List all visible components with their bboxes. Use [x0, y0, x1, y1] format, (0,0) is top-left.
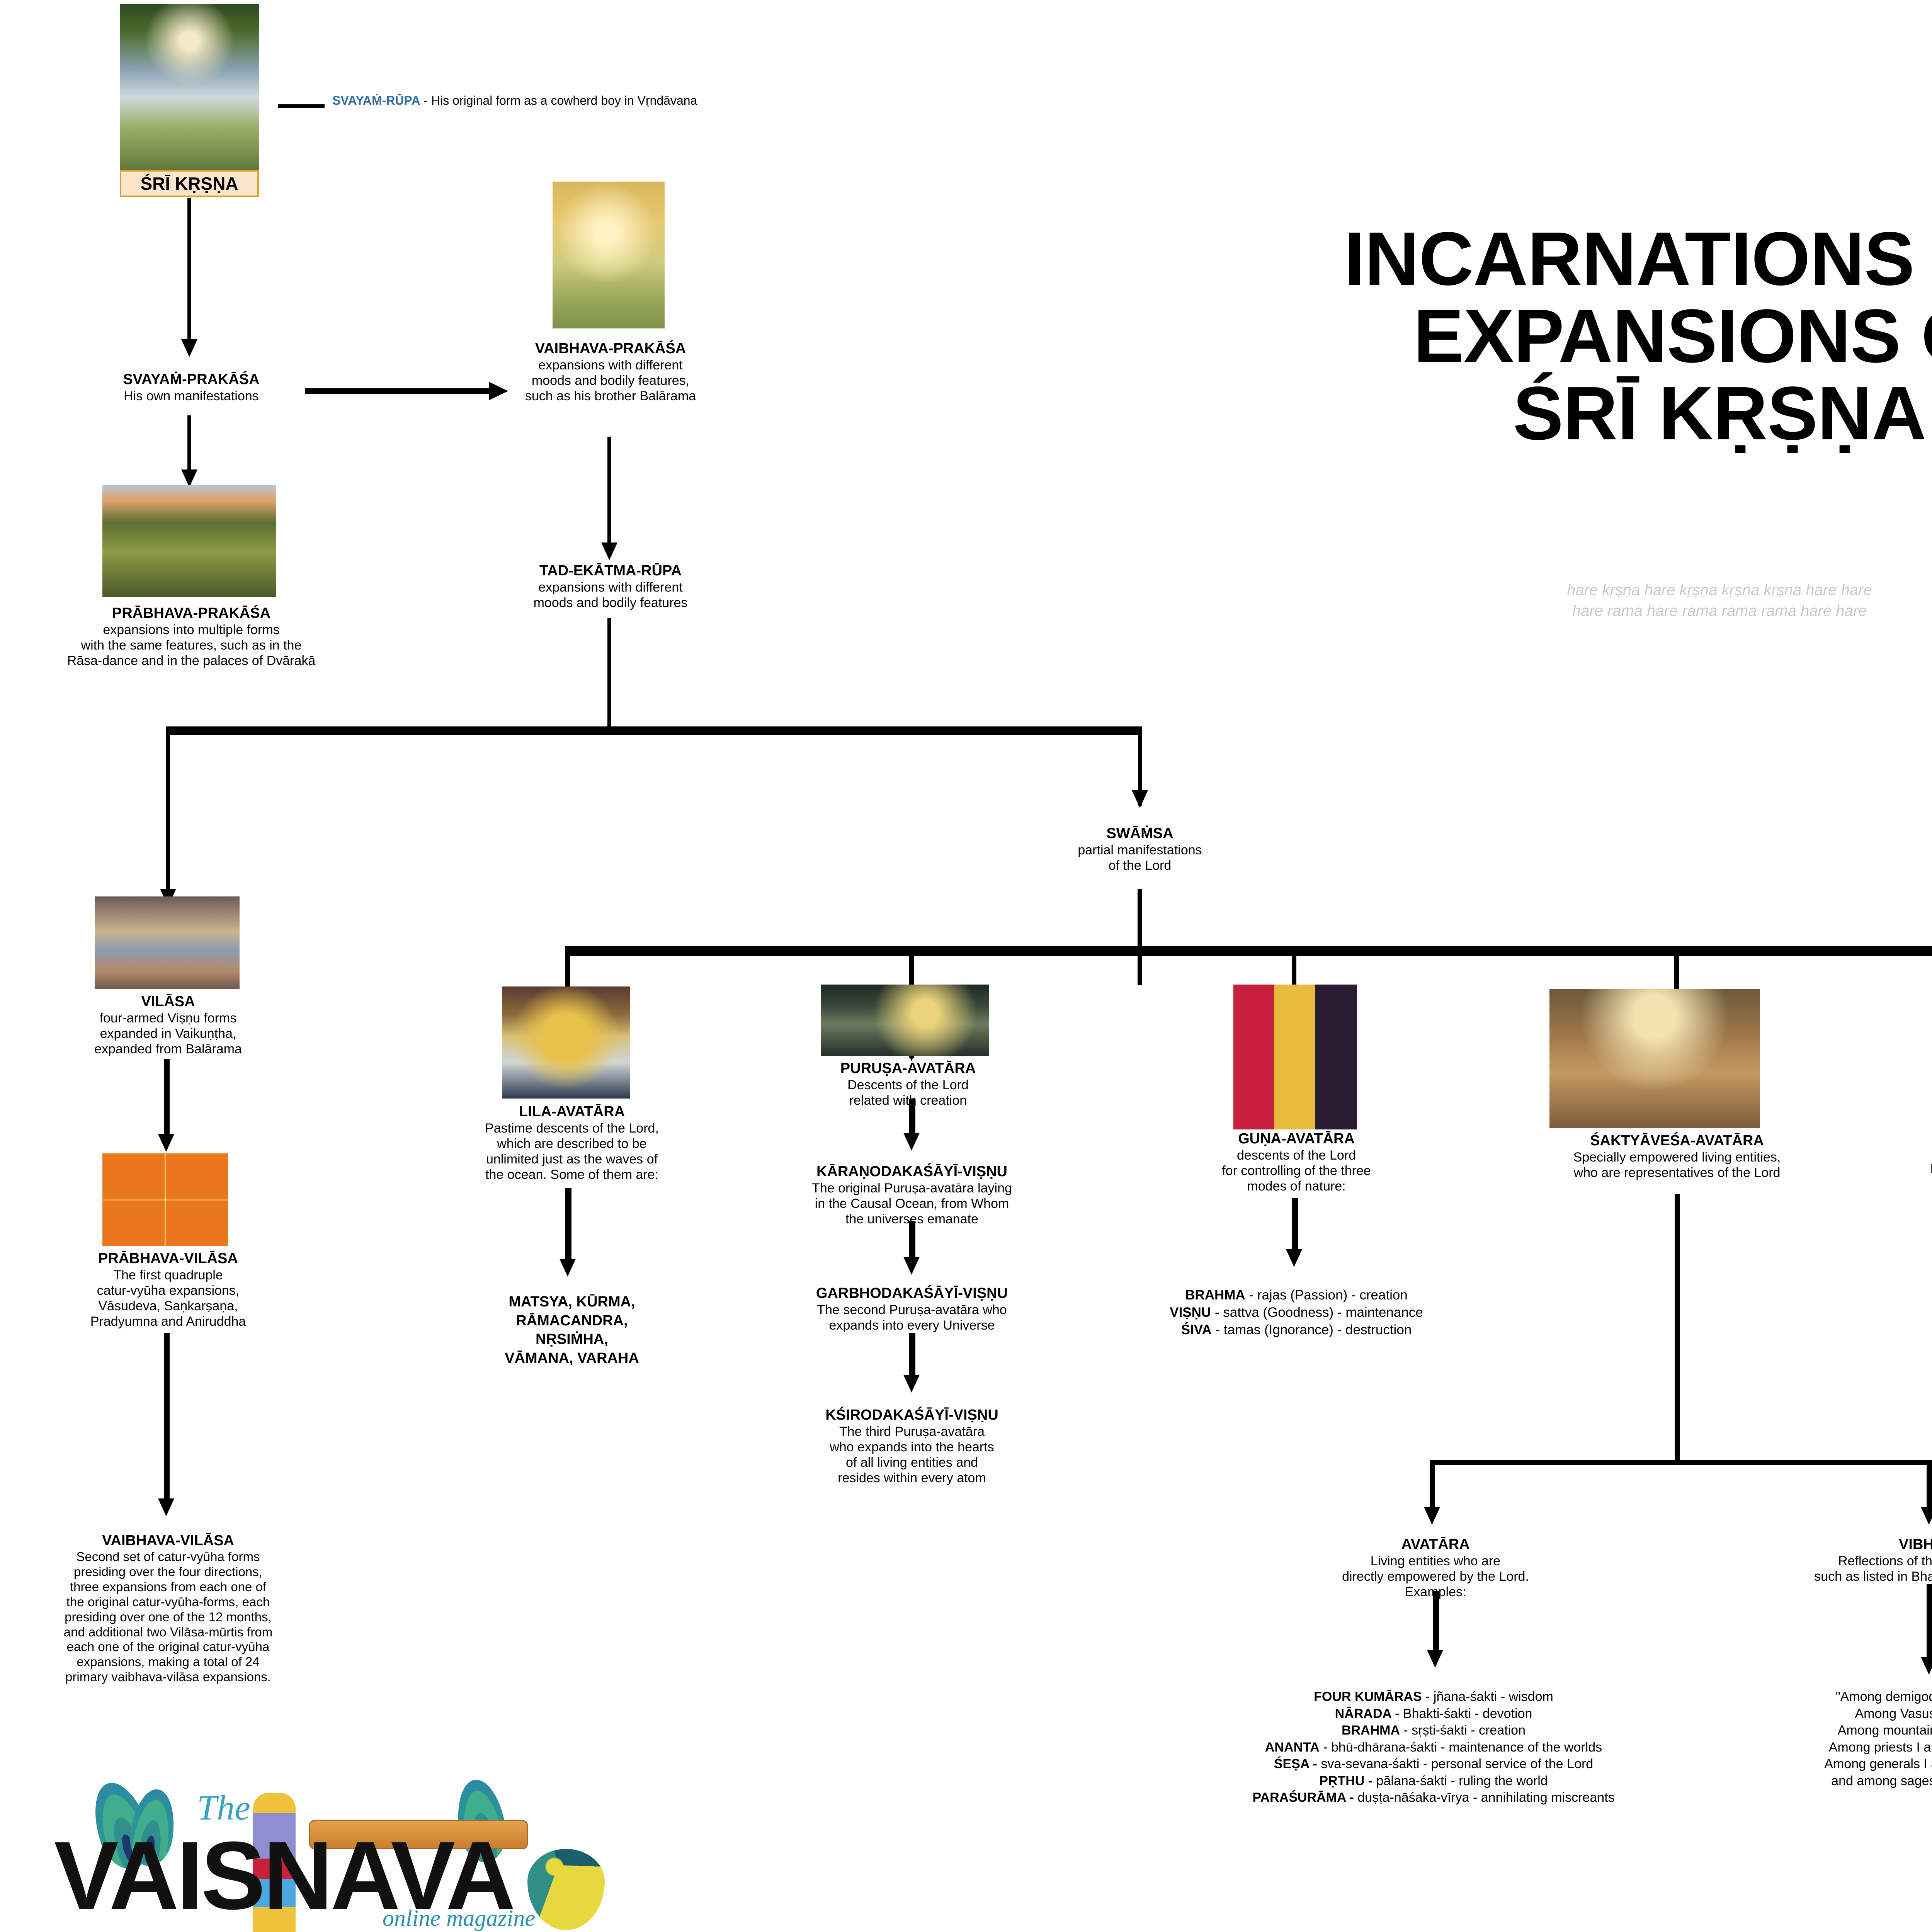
connector-vibhuti-to-quote [1927, 1584, 1932, 1660]
node-prabhava-vilasa-heading: PRĀBHAVA-VILĀSA [23, 1250, 313, 1267]
distribution-bar-avataras [565, 946, 1932, 956]
node-tad-ekatma-rupa: TAD-EKĀTMA-RŪPA expansions with differen… [475, 562, 746, 611]
lila-avatara-list: MATSYA, KŪRMA, RĀMACANDRA, NṚSIṀHA, VĀMA… [429, 1293, 715, 1368]
list-item: "Among demigods I am INDRA, [1731, 1689, 1932, 1706]
vibhuti-quote-4-pre: Among generals I am [1824, 1757, 1932, 1771]
node-vaibhava-vilasa-body: Second set of catur-vyūha forms presidin… [4, 1549, 332, 1685]
list-item: VIṢṆU - sattva (Goodness) - maintenance [1109, 1304, 1484, 1321]
peacock-icon [527, 1849, 605, 1930]
vaikuntha-visnu-image [95, 896, 240, 989]
avatara-list-3-desc: - bhū-dhārana-śakti - maintenance of the… [1320, 1740, 1602, 1755]
node-saktyavesa-avatara-heading: ŚAKTYĀVEŚA-AVATĀRA [1515, 1132, 1839, 1150]
list-item: Among priests I am BṚIHASPATI, [1731, 1739, 1932, 1756]
node-manvantara-avatara-body: Descents of the Lord for each age of Man… [1859, 1130, 1932, 1208]
connector-bar-to-vilasa [166, 726, 170, 908]
maha-mantra: hare kṛṣṇa hare kṛṣṇa kṛṣṇa kṛṣṇa hare h… [1213, 580, 1932, 621]
guna-list-1-desc: - sattva (Goodness) - maintenance [1211, 1305, 1423, 1320]
krsna-balarama-image [553, 182, 665, 328]
arrowhead-bar-to-swamsa [1132, 790, 1148, 808]
guna-list-0-desc: - rajas (Passion) - creation [1245, 1287, 1408, 1303]
svayam-rupa-text: - His original form as a cowherd boy in … [420, 94, 697, 107]
connector-guna-to-list [1292, 1198, 1298, 1252]
visnu-causal-ocean-image [821, 985, 989, 1056]
connector-prabhavavilasa-to-vaibhavavilasa [164, 1333, 170, 1499]
avatara-list-1-name: NĀRADA - [1335, 1706, 1400, 1721]
connector-vilasa-to-prabhavavilasa [164, 1059, 170, 1136]
connector-karanodaka-to-garbhodaka [909, 1221, 915, 1260]
node-saktyavesa-avatara-body: Specially empowered living entities, who… [1515, 1150, 1839, 1180]
arrowhead-vilasa-to-prabhavavilasa [158, 1134, 174, 1152]
node-swamsa: SWĀṀSA partial manifestations of the Lor… [1012, 825, 1267, 873]
list-item: ŚIVA - tamas (Ignorance) - destruction [1109, 1321, 1484, 1339]
list-item: PARAŚURĀMA - duṣṭa-nāśaka-vīrya - annihi… [1159, 1789, 1708, 1806]
avatara-list-1-desc: Bhakti-śakti - devotion [1399, 1706, 1532, 1721]
connector-saktyavesa-down [1675, 1194, 1680, 1464]
avatara-list: FOUR KUMĀRAS - jñana-śakti - wisdom NĀRA… [1159, 1689, 1708, 1806]
node-vaibhava-prakasa-heading: VAIBHAVA-PRAKĀŚA [479, 340, 742, 357]
node-karanodakasayi: KĀRAṆODAKAŚĀYĪ-VIṢṆU The original Puruṣa… [757, 1163, 1066, 1227]
avatara-list-6-name: PARAŚURĀMA - [1252, 1790, 1354, 1805]
sri-krsna-image [120, 4, 259, 174]
arrowhead-lila-to-list [560, 1259, 576, 1277]
node-karanodakasayi-body: The original Puruṣa-avatāra laying in th… [757, 1180, 1066, 1227]
arrowhead-vibhuti-to-quote [1921, 1657, 1932, 1675]
node-lila-avatara: LILA-AVATĀRA Pastime descents of the Lor… [429, 1103, 715, 1182]
list-item: Among mountains I am MERU, [1731, 1722, 1932, 1739]
node-svayam-prakasa-heading: SVAYAṀ-PRAKĀŚA [44, 371, 338, 388]
node-purusa-avatara-heading: PURUṢA-AVATĀRA [773, 1060, 1043, 1077]
vibhuti-quote-5-pre: and among sages I am [1831, 1774, 1932, 1788]
page-title-line2: EXPANSIONS OF [1213, 298, 1932, 375]
arrowhead-garbhodaka-to-ksirodaka [903, 1375, 920, 1393]
node-prabhava-vilasa: PRĀBHAVA-VILĀSA The first quadruple catu… [23, 1250, 313, 1329]
node-guna-avatara-heading: GUṆA-AVATĀRA [1148, 1130, 1445, 1148]
node-guna-avatara: GUṆA-AVATĀRA descents of the Lord for co… [1148, 1130, 1445, 1194]
rasa-dance-image [102, 485, 276, 597]
connector-svayamprakasa-to-vaibhavaprakasa [305, 388, 491, 394]
avatara-list-2-name: BRAHMA [1342, 1723, 1400, 1738]
node-lila-avatara-heading: LILA-AVATĀRA [429, 1103, 715, 1121]
parasurama-image [1549, 989, 1760, 1128]
node-vilasa-heading: VILĀSA [37, 993, 299, 1010]
list-item: ANANTA - bhū-dhārana-śakti - maintenance… [1159, 1739, 1708, 1756]
arrowhead-bar-to-avatara [1424, 1507, 1440, 1525]
node-ksirodakasayi: KŚIRODAKAŚĀYĪ-VIṢṆU The third Puruṣa-ava… [757, 1406, 1066, 1486]
page-title-line1: INCARNATIONS AND [1213, 220, 1932, 298]
trimurti-image [1233, 985, 1357, 1129]
guna-list-2-desc: - tamas (Ignorance) - destruction [1212, 1322, 1412, 1337]
arrowhead-prabhavavilasa-to-vaibhavavilasa [158, 1498, 174, 1516]
avatara-list-5-desc: pālana-śakti - ruling the world [1372, 1774, 1548, 1788]
arrowhead-purusa-to-karanodaka [903, 1133, 920, 1151]
node-saktyavesa-avatara: ŚAKTYĀVEŚA-AVATĀRA Specially empowered l… [1515, 1132, 1839, 1180]
diagram-canvas: ŚRĪ KṚṢṆA SVAYAṀ-RŪPA - His original for… [0, 0, 1932, 1932]
node-prabhava-prakasa: PRĀBHAVA-PRAKĀŚA expansions into multipl… [0, 605, 383, 668]
node-vilasa-body: four-armed Viṣṇu forms expanded in Vaiku… [37, 1010, 299, 1057]
node-vibhuti-heading: VIBHŪTI [1762, 1536, 1932, 1553]
list-item: Among generals I am KĀRTIKEYA, [1731, 1756, 1932, 1773]
vibhuti-quote: "Among demigods I am INDRA, Among VasusI… [1731, 1689, 1932, 1789]
node-vaibhava-prakasa: VAIBHAVA-PRAKĀŚA expansions with differe… [479, 340, 742, 404]
svayam-rupa-callout-line [278, 104, 325, 108]
list-item: Among VasusI am AGNI, [1731, 1706, 1932, 1723]
sri-krsna-label: ŚRĪ KṚṢṆA [120, 170, 259, 197]
arrowhead-karanodaka-to-garbhodaka [903, 1257, 920, 1275]
vibhuti-quote-3-pre: Among priests I am [1829, 1740, 1932, 1755]
node-tad-ekatma-rupa-body: expansions with different moods and bodi… [475, 580, 746, 611]
node-vaibhava-vilasa: VAIBHAVA-VILĀSA Second set of catur-vyūh… [4, 1532, 332, 1685]
avatara-list-5-name: PṚTHU - [1319, 1774, 1372, 1788]
split-bar-vilasa-swamsa [166, 726, 1142, 735]
node-svayam-prakasa: SVAYAṀ-PRAKĀŚA His own manifestations [44, 371, 338, 404]
connector-purusa-to-karanodaka [909, 1099, 915, 1136]
node-ksirodakasayi-heading: KŚIRODAKAŚĀYĪ-VIṢṆU [757, 1406, 1066, 1424]
node-purusa-avatara: PURUṢA-AVATĀRA Descents of the Lord rela… [773, 1060, 1043, 1108]
avatara-list-0-desc: jñana-śakti - wisdom [1430, 1689, 1553, 1704]
connector-garbhodaka-to-ksirodaka [909, 1333, 915, 1378]
node-avatara-heading: AVATĀRA [1283, 1536, 1588, 1553]
vibhuti-quote-2-pre: Among mountains I am [1838, 1723, 1932, 1738]
node-garbhodakasayi-heading: GARBHODAKAŚĀYĪ-VIṢṆU [757, 1285, 1066, 1302]
arrowhead-krsna-to-svayamprakasa [181, 339, 197, 357]
svayam-rupa-key: SVAYAṀ-RŪPA [332, 94, 420, 107]
list-item: NĀRADA - Bhakti-śakti - devotion [1159, 1706, 1708, 1723]
vibhuti-quote-1-pre: Among VasusI am [1855, 1706, 1932, 1721]
list-item: BRAHMA - sṛṣti-śakti - creation [1159, 1722, 1708, 1739]
node-prabhava-vilasa-body: The first quadruple catur-vyūha expansio… [23, 1267, 313, 1329]
list-item: PṚTHU - pālana-śakti - ruling the world [1159, 1773, 1708, 1790]
node-tad-ekatma-rupa-heading: TAD-EKĀTMA-RŪPA [475, 562, 746, 580]
node-vaibhava-vilasa-heading: VAIBHAVA-VILĀSA [4, 1532, 332, 1549]
list-item: BRAHMA - rajas (Passion) - creation [1109, 1287, 1484, 1304]
sri-krsna-label-text: ŚRĪ KṚṢṆA [140, 173, 238, 194]
guna-list-1-name: VIṢṆU [1170, 1305, 1211, 1320]
maha-mantra-line1: hare kṛṣṇa hare kṛṣṇa kṛṣṇa kṛṣṇa hare h… [1213, 580, 1932, 600]
maha-mantra-line2: hare rama hare rama rama rama hare hare [1213, 600, 1932, 621]
svayam-rupa-callout: SVAYAṀ-RŪPA - His original form as a cow… [332, 94, 697, 108]
list-item: FOUR KUMĀRAS - jñana-śakti - wisdom [1159, 1689, 1708, 1706]
node-prabhava-prakasa-heading: PRĀBHAVA-PRAKĀŚA [0, 605, 383, 622]
page-title: INCARNATIONS AND EXPANSIONS OF ŚRĪ KṚṢṆA [1213, 220, 1932, 452]
node-vibhuti: VIBHŪTI Reflections of the Lord's might,… [1762, 1536, 1932, 1584]
arrowhead-avatara-to-list [1427, 1650, 1443, 1668]
node-guna-avatara-body: descents of the Lord for controlling of … [1148, 1148, 1445, 1194]
matsya-image [502, 986, 630, 1099]
guna-list-2-name: ŚIVA [1181, 1322, 1212, 1337]
node-manvantara-avatara-heading: MANVANTARA-AVATĀRA [1859, 1113, 1932, 1130]
logo-tagline: online magazine [383, 1905, 535, 1932]
node-garbhodakasayi-body: The second Puruṣa-avatāra who expands in… [757, 1302, 1066, 1333]
arrowhead-guna-to-list [1286, 1249, 1302, 1267]
node-vibhuti-body: Reflections of the Lord's might, such as… [1762, 1553, 1932, 1584]
connector-swamsa-down [1138, 889, 1142, 985]
avatara-list-3-name: ANANTA [1265, 1740, 1320, 1755]
node-swamsa-body: partial manifestations of the Lord [1012, 842, 1267, 873]
node-prabhava-prakasa-body: expansions into multiple forms with the … [0, 622, 383, 668]
node-ksirodakasayi-body: The third Puruṣa-avatāra who expands int… [757, 1424, 1066, 1486]
page-title-line3: ŚRĪ KṚṢṆA [1213, 375, 1932, 452]
arrowhead-bar-to-vibhuti [1921, 1507, 1932, 1525]
avatara-list-0-name: FOUR KUMĀRAS - [1314, 1689, 1430, 1704]
connector-bar-to-vibhuti [1927, 1460, 1932, 1510]
connector-lila-to-list [565, 1188, 571, 1262]
node-karanodakasayi-heading: KĀRAṆODAKAŚĀYĪ-VIṢṆU [757, 1163, 1066, 1180]
guna-list-0-name: BRAHMA [1185, 1287, 1245, 1303]
list-item: ŚEṢA - sva-sevana-śakti - personal servi… [1159, 1756, 1708, 1773]
avatara-list-4-name: ŚEṢA - [1274, 1757, 1317, 1771]
split-bar-avatara-vibhuti [1430, 1460, 1932, 1465]
node-vaibhava-prakasa-body: expansions with different moods and bodi… [479, 357, 742, 404]
connector-bar-to-avatara [1430, 1460, 1435, 1510]
node-purusa-avatara-body: Descents of the Lord related with creati… [773, 1077, 1043, 1108]
vaisnava-logo[interactable]: The VAISNAVA online magazine [39, 1777, 773, 1932]
vibhuti-quote-0-pre: "Among demigods I am [1836, 1689, 1932, 1704]
node-avatara: AVATĀRA Living entities who are directly… [1283, 1536, 1588, 1600]
node-vilasa: VILĀSA four-armed Viṣṇu forms expanded i… [37, 993, 299, 1057]
avatara-list-2-desc: - sṛṣti-śakti - creation [1400, 1723, 1526, 1738]
node-svayam-prakasa-body: His own manifestations [44, 388, 338, 404]
catur-vyuha-image [102, 1153, 228, 1246]
connector-svayamprakasa-to-prabhavaprakasa [187, 415, 191, 471]
connector-vaibhavaprakasa-to-tadekatma [607, 437, 611, 545]
avatara-list-6-desc: duṣṭa-nāśaka-vīrya - annihilating miscre… [1354, 1790, 1615, 1805]
guna-avatara-list: BRAHMA - rajas (Passion) - creation VIṢṆ… [1109, 1287, 1484, 1338]
connector-krsna-to-svayamprakasa [187, 198, 191, 341]
node-garbhodakasayi: GARBHODAKAŚĀYĪ-VIṢṆU The second Puruṣa-a… [757, 1285, 1066, 1333]
list-item: and among sages I am BHṚGU." [1731, 1773, 1932, 1790]
arrowhead-vaibhavaprakasa-to-tadekatma [601, 543, 617, 560]
connector-avatara-to-list [1433, 1591, 1439, 1653]
node-manvantara-avatara: MANVANTARA-AVATĀRA Descents of the Lord … [1859, 1113, 1932, 1207]
connector-tadekatma-down [607, 618, 611, 730]
node-swamsa-heading: SWĀṀSA [1012, 825, 1267, 842]
node-lila-avatara-body: Pastime descents of the Lord, which are … [429, 1121, 715, 1182]
avatara-list-4-desc: sva-sevana-śakti - personal service of t… [1317, 1757, 1593, 1771]
